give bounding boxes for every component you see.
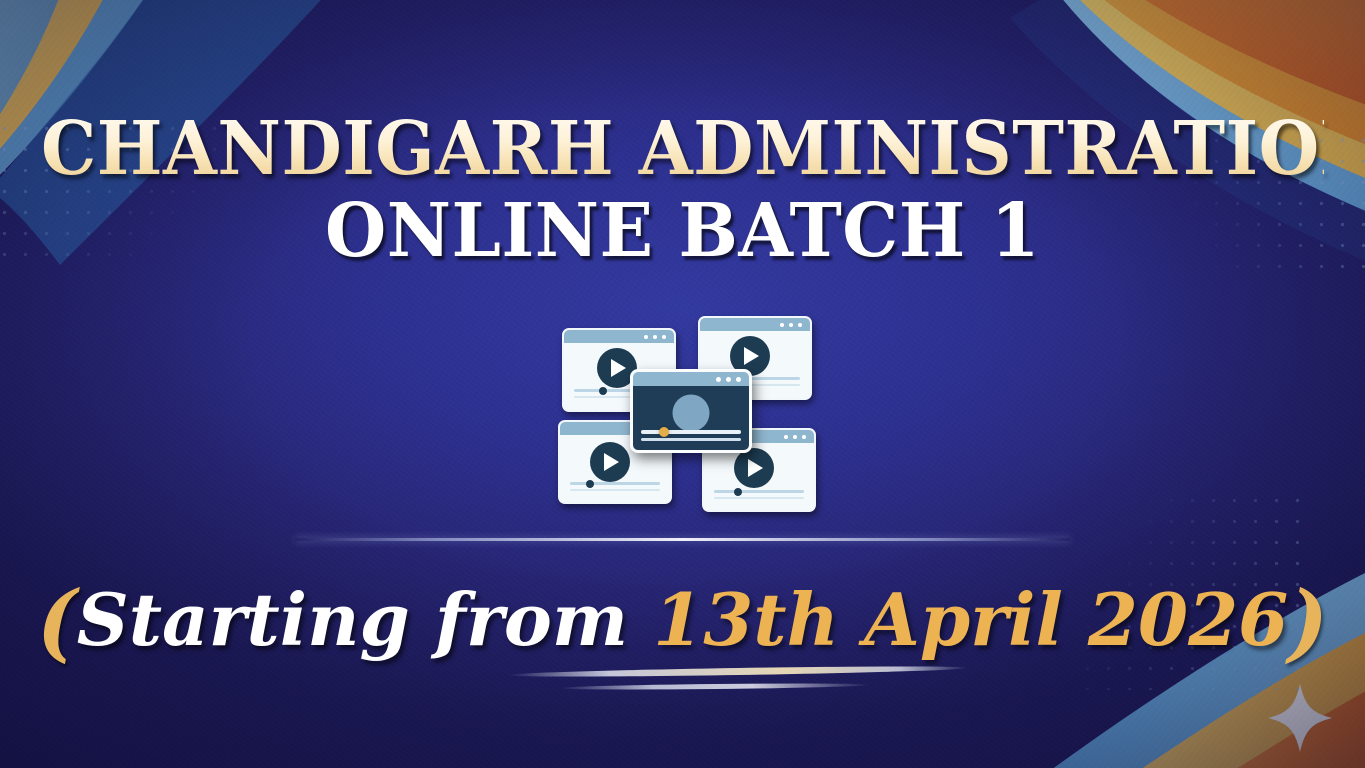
window-title-bar — [564, 330, 674, 343]
window-dot-icon — [662, 335, 666, 339]
progress-knob — [659, 427, 669, 437]
progress-track-secondary — [714, 497, 804, 499]
window-dot-icon — [653, 335, 657, 339]
promo-banner: CHANDIGARH ADMINISTRATION CLERK ONLINE B… — [0, 0, 1365, 768]
progress-knob — [599, 387, 607, 395]
progress-track — [570, 482, 660, 485]
progress-bar — [714, 490, 804, 499]
play-triangle-icon — [744, 347, 759, 365]
play-triangle-icon — [611, 359, 626, 377]
window-title-bar — [633, 372, 749, 386]
start-date-line: (Starting from 13th April 2026) — [37, 578, 1328, 666]
progress-bar — [641, 430, 741, 441]
play-button-icon — [590, 442, 630, 482]
section-divider — [295, 538, 1070, 541]
window-dot-icon — [716, 377, 721, 382]
window-screen — [633, 386, 749, 450]
start-date-prefix: Starting from — [77, 577, 628, 662]
window-dot-icon — [726, 377, 731, 382]
window-dot-icon — [789, 323, 793, 327]
video-window-center-featured — [630, 369, 752, 453]
window-dot-icon — [802, 435, 806, 439]
window-body — [704, 443, 814, 510]
start-date-block: (Starting from 13th April 2026) — [0, 578, 1365, 666]
window-dot-icon — [736, 377, 741, 382]
window-title-bar — [700, 318, 810, 331]
play-button-icon — [734, 448, 774, 488]
progress-knob — [586, 480, 594, 488]
progress-track-secondary — [570, 489, 660, 491]
sparkle-icon — [1268, 684, 1332, 752]
close-paren: ) — [1288, 572, 1328, 671]
play-triangle-icon — [748, 459, 763, 477]
open-paren: ( — [37, 572, 77, 671]
video-players-illustration — [556, 312, 818, 506]
headline-block: CHANDIGARH ADMINISTRATION CLERK ONLINE B… — [0, 112, 1365, 268]
progress-bar — [570, 482, 660, 491]
page-subtitle: ONLINE BATCH 1 — [34, 194, 1331, 268]
date-underline-swoosh-secondary — [560, 682, 870, 690]
date-underline-swoosh-primary — [508, 664, 968, 678]
window-dot-icon — [798, 323, 802, 327]
window-dot-icon — [644, 335, 648, 339]
window-dot-icon — [780, 323, 784, 327]
progress-track — [641, 430, 741, 434]
play-button-icon — [673, 394, 710, 431]
page-title: CHANDIGARH ADMINISTRATION CLERK — [41, 112, 1324, 186]
progress-track — [714, 490, 804, 493]
start-date-value: 13th April 2026 — [653, 577, 1288, 662]
window-dot-icon — [784, 435, 788, 439]
progress-knob — [734, 488, 742, 496]
progress-track-secondary — [641, 438, 741, 441]
window-dot-icon — [793, 435, 797, 439]
play-triangle-icon — [604, 453, 619, 471]
